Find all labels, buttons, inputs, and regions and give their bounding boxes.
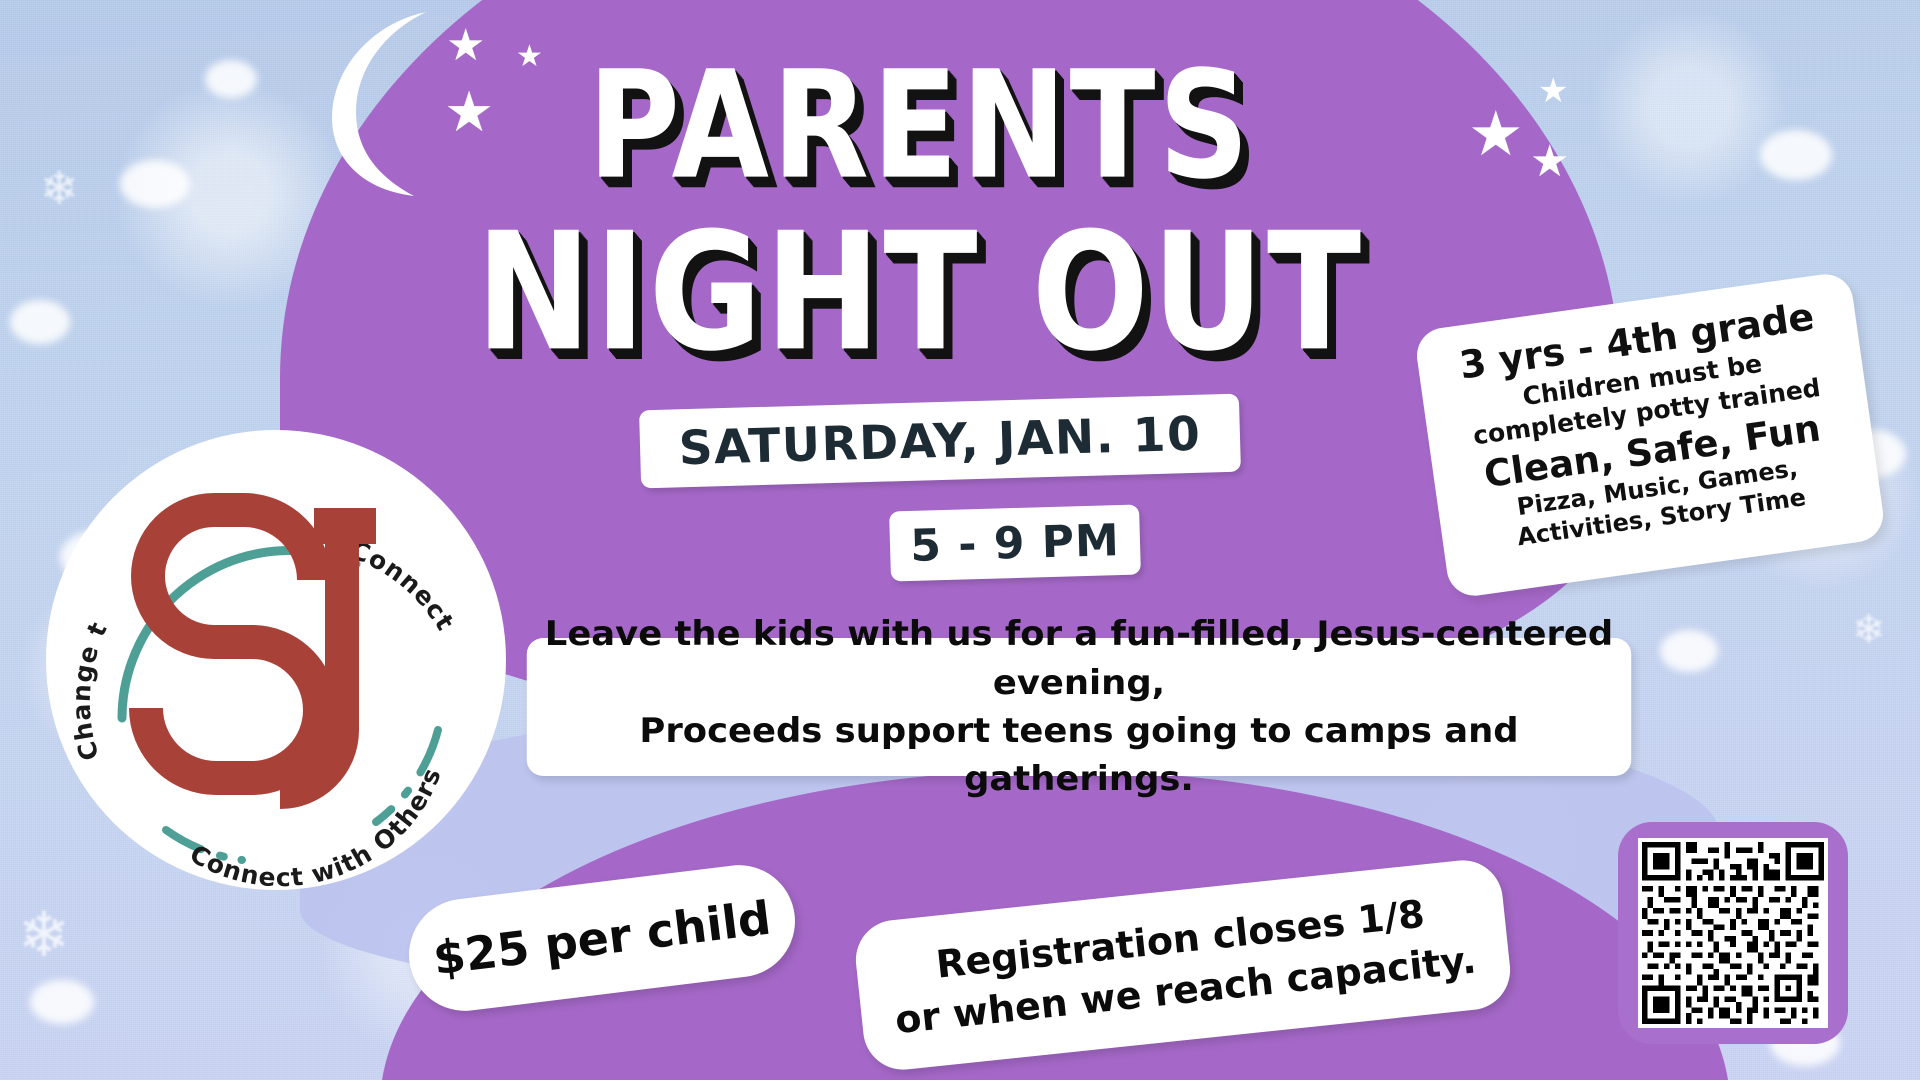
star-icon: ★ bbox=[1530, 140, 1569, 184]
svg-text:Connect with Jesus: Connect with Jesus bbox=[46, 430, 466, 644]
star-icon: ★ bbox=[1538, 74, 1568, 108]
snowflake-icon: ❄ bbox=[40, 165, 79, 211]
snow-blob bbox=[1660, 630, 1718, 672]
title-line-2: NIGHT OUT bbox=[330, 208, 1510, 379]
poster-title: PARENTS NIGHT OUT bbox=[330, 48, 1510, 353]
poster-canvas: ❄ ❄ ❄ ★ ★ ★ ★ ★ ★ PARENTS NIGHT OUT SATU… bbox=[0, 0, 1920, 1080]
description-line-2: Proceeds support teens going to camps an… bbox=[527, 707, 1631, 804]
svg-text:Change the World .: Change the World . bbox=[46, 430, 113, 764]
snow-blob bbox=[30, 980, 94, 1024]
title-line-1: PARENTS bbox=[330, 48, 1510, 204]
snow-blob bbox=[205, 60, 257, 98]
description-line-1: Leave the kids with us for a fun-filled,… bbox=[527, 610, 1631, 707]
time-badge: 5 - 9 PM bbox=[889, 505, 1141, 582]
snowflake-icon: ❄ bbox=[18, 905, 70, 967]
snow-blob bbox=[10, 300, 70, 344]
snow-blob bbox=[120, 160, 190, 208]
qr-code-icon[interactable] bbox=[1638, 838, 1828, 1028]
organization-logo: Connect with Jesus Change the World . Co… bbox=[46, 430, 506, 890]
snowflake-icon: ❄ bbox=[1852, 610, 1886, 650]
description-card: Leave the kids with us for a fun-filled,… bbox=[527, 638, 1631, 776]
snow-blob bbox=[1760, 130, 1832, 180]
